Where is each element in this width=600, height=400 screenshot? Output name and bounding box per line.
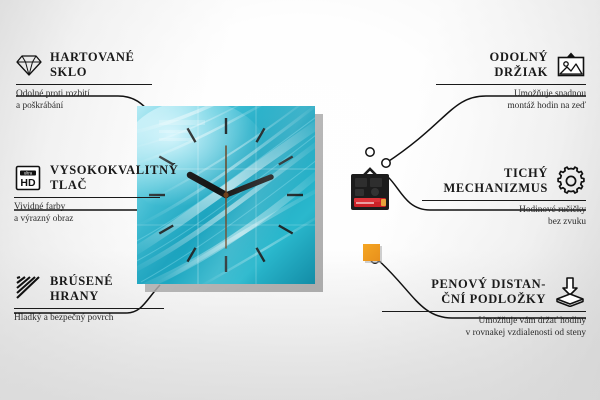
- feature-desc-line2: a výrazný obraz: [14, 214, 160, 226]
- feature-desc-line1: Hladký a bezpečný povrch: [14, 313, 164, 325]
- feature-divider: [436, 84, 586, 85]
- ultra-hd-big-label: HD: [20, 177, 36, 189]
- feature-title-line1: TICHÝ: [443, 166, 548, 181]
- feature-desc-line2: montáž hodin na zeď: [436, 101, 586, 113]
- wall-clock-product: [137, 106, 315, 284]
- feature-desc-line1: Umožňuje snadnou: [436, 89, 586, 101]
- feature-title-line2: MECHANIZMUS: [443, 181, 548, 196]
- feature-divider: [14, 197, 160, 198]
- gear-icon: [556, 166, 586, 196]
- feature-title: VYSOKOKVALITNÝ TLAČ: [50, 163, 178, 193]
- feature-desc-line1: Umožňuje vám držať hodiny: [382, 316, 586, 328]
- feature-title-line2: TLAČ: [50, 178, 178, 193]
- picture-frame-hanger-icon: [556, 51, 586, 79]
- foam-spacer-pad: [363, 244, 380, 261]
- product-infographic: HARTOVANÉ SKLO Odolné proti rozbití a po…: [0, 0, 600, 400]
- feature-desc-line1: Hodinové ručičky: [422, 205, 586, 217]
- feature-desc-line2: v rovnakej vzdialenosti od steny: [382, 328, 586, 340]
- feature-head: HARTOVANÉ SKLO: [16, 50, 152, 80]
- feature-title-line2: ČNÍ PODLOŽKY: [431, 292, 546, 307]
- feature-desc-line1: Vividné farby: [14, 202, 160, 214]
- feature-title-line1: VYSOKOKVALITNÝ: [50, 163, 178, 178]
- feature-head: TICHÝ MECHANIZMUS: [422, 166, 586, 196]
- beveled-edges-icon: [14, 276, 42, 302]
- feature-durable-hanger: ODOLNÝ DRŽIAK Umožňuje snadnou montáž ho…: [436, 50, 586, 112]
- feature-description: Odolné proti rozbití a poškrábání: [16, 89, 152, 112]
- clock-artwork: [137, 106, 315, 284]
- feature-title-line2: SKLO: [50, 65, 134, 80]
- feature-silent-mechanism: TICHÝ MECHANIZMUS Hodinové ručičky bez z…: [422, 166, 586, 228]
- feature-description: Umožňuje vám držať hodiny v rovnakej vzd…: [382, 316, 586, 339]
- feature-divider: [14, 308, 164, 309]
- ultra-hd-small-label: ultra: [24, 171, 33, 176]
- clock-mechanism: [347, 166, 393, 223]
- feature-desc-line2: a poškrábání: [16, 101, 152, 113]
- feature-beveled-edges: BRÚSENÉ HRANY Hladký a bezpečný povrch: [14, 274, 164, 325]
- feature-divider: [16, 84, 152, 85]
- feature-description: Vividné farby a výrazný obraz: [14, 202, 160, 225]
- feature-title: ODOLNÝ DRŽIAK: [490, 50, 548, 80]
- feature-head: BRÚSENÉ HRANY: [14, 274, 164, 304]
- feature-desc-line2: bez zvuku: [422, 217, 586, 229]
- feature-head: ODOLNÝ DRŽIAK: [436, 50, 586, 80]
- diamond-icon: [16, 53, 42, 77]
- feature-title-line2: HRANY: [50, 289, 113, 304]
- foam-pad-arrow-icon: [554, 277, 586, 307]
- feature-title-line1: PENOVÝ DISTAN-: [431, 277, 546, 292]
- feature-title: HARTOVANÉ SKLO: [50, 50, 134, 80]
- feature-divider: [422, 200, 586, 201]
- feature-title-line1: HARTOVANÉ: [50, 50, 134, 65]
- feature-description: Hladký a bezpečný povrch: [14, 313, 164, 325]
- feature-description: Hodinové ručičky bez zvuku: [422, 205, 586, 228]
- feature-desc-line1: Odolné proti rozbití: [16, 89, 152, 101]
- feature-head: ultra HD VYSOKOKVALITNÝ TLAČ: [14, 163, 160, 193]
- ultra-hd-icon: ultra HD: [14, 164, 42, 192]
- feature-description: Umožňuje snadnou montáž hodin na zeď: [436, 89, 586, 112]
- feature-hardened-glass: HARTOVANÉ SKLO Odolné proti rozbití a po…: [16, 50, 152, 112]
- feature-title-line2: DRŽIAK: [490, 65, 548, 80]
- clock-face: [137, 106, 315, 284]
- feature-foam-spacers: PENOVÝ DISTAN- ČNÍ PODLOŽKY Umožňuje vám…: [382, 277, 586, 339]
- feature-head: PENOVÝ DISTAN- ČNÍ PODLOŽKY: [382, 277, 586, 307]
- feature-high-quality-print: ultra HD VYSOKOKVALITNÝ TLAČ Vividné far…: [14, 163, 160, 225]
- feature-title: TICHÝ MECHANIZMUS: [443, 166, 548, 196]
- feature-title: PENOVÝ DISTAN- ČNÍ PODLOŽKY: [431, 277, 546, 307]
- feature-divider: [382, 311, 586, 312]
- feature-title-line1: BRÚSENÉ: [50, 274, 113, 289]
- feature-title-line1: ODOLNÝ: [490, 50, 548, 65]
- feature-title: BRÚSENÉ HRANY: [50, 274, 113, 304]
